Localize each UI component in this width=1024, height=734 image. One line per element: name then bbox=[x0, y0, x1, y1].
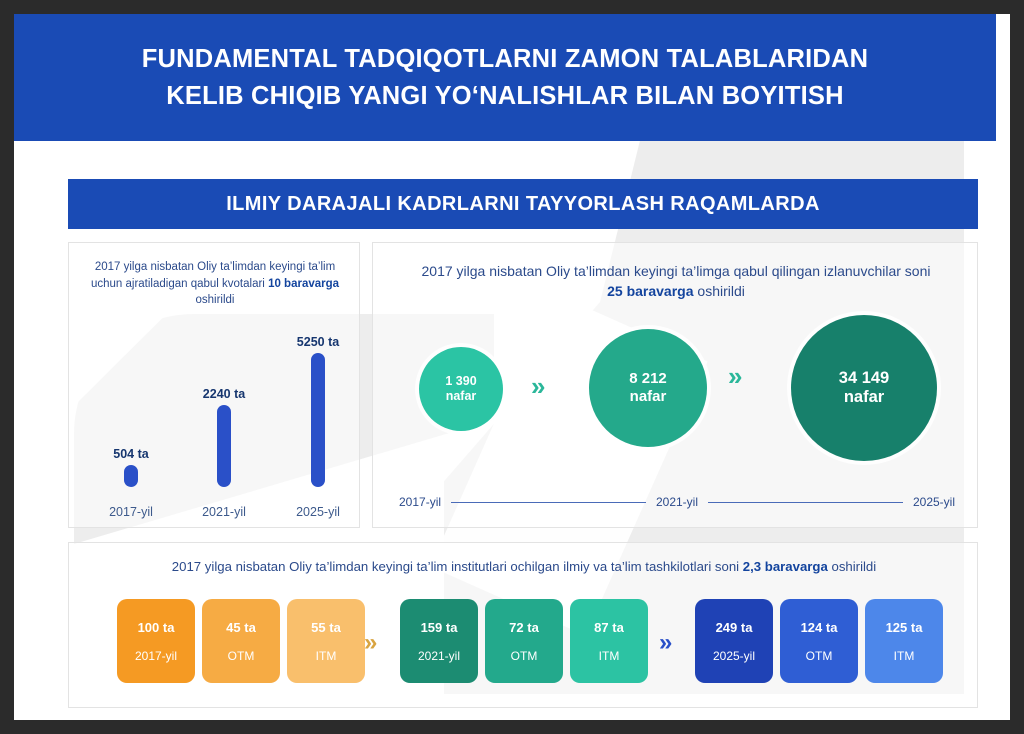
institution-card: 45 ta OTM bbox=[202, 599, 280, 683]
chevron-right-icon: » bbox=[659, 629, 668, 657]
card-number: 45 ta bbox=[226, 620, 256, 635]
slide-canvas: FUNDAMENTAL TADQIQOTLARNI ZAMON TALABLAR… bbox=[14, 14, 1010, 720]
circle-unit: nafar bbox=[844, 388, 884, 407]
bar-value-label: 5250 ta bbox=[278, 335, 358, 349]
bar-value-label: 2240 ta bbox=[184, 387, 264, 401]
researchers-caption-post: oshirildi bbox=[694, 283, 745, 299]
institutions-caption-highlight: 2,3 baravarga bbox=[743, 559, 828, 574]
timeline-label: 2025-yil bbox=[913, 495, 955, 509]
researchers-circle-2017: 1 390 nafar bbox=[419, 347, 503, 431]
researchers-caption-pre: 2017 yilga nisbatan Oliy ta’limdan keyin… bbox=[422, 263, 931, 279]
institution-card: 125 ta ITM bbox=[865, 599, 943, 683]
timeline-connector bbox=[451, 502, 646, 503]
quota-caption: 2017 yilga nisbatan Oliy ta’limdan keyin… bbox=[85, 259, 345, 309]
card-label: OTM bbox=[511, 649, 538, 663]
card-number: 159 ta bbox=[421, 620, 458, 635]
card-label: ITM bbox=[894, 649, 915, 663]
panel-quota-chart: 2017 yilga nisbatan Oliy ta’limdan keyin… bbox=[68, 242, 360, 528]
circle-unit: nafar bbox=[630, 388, 667, 406]
card-number: 72 ta bbox=[509, 620, 539, 635]
circle-number: 8 212 bbox=[629, 370, 667, 388]
bar-axis-label: 2025-yil bbox=[278, 505, 358, 519]
researchers-circle-2021: 8 212 nafar bbox=[589, 329, 707, 447]
institution-card: 159 ta 2021-yil bbox=[400, 599, 478, 683]
section-title-bar: ILMIY DARAJALI KADRLARNI TAYYORLASH RAQA… bbox=[68, 179, 978, 229]
card-label: 2017-yil bbox=[135, 649, 177, 663]
institution-card: 72 ta OTM bbox=[485, 599, 563, 683]
institution-card: 55 ta ITM bbox=[287, 599, 365, 683]
researchers-circle-2025: 34 149 nafar bbox=[791, 315, 937, 461]
timeline-label: 2017-yil bbox=[399, 495, 441, 509]
institutions-caption: 2017 yilga nisbatan Oliy ta’limdan keyin… bbox=[89, 557, 959, 576]
institutions-caption-pre: 2017 yilga nisbatan Oliy ta’limdan keyin… bbox=[172, 559, 743, 574]
card-number: 100 ta bbox=[138, 620, 175, 635]
circle-number: 34 149 bbox=[839, 369, 889, 388]
section-title: ILMIY DARAJALI KADRLARNI TAYYORLASH RAQA… bbox=[226, 193, 820, 216]
institution-card: 100 ta 2017-yil bbox=[117, 599, 195, 683]
bar-axis-label: 2021-yil bbox=[184, 505, 264, 519]
chevron-right-icon: » bbox=[728, 361, 738, 392]
researchers-caption-highlight: 25 baravarga bbox=[607, 283, 693, 299]
bar-rect bbox=[124, 465, 138, 487]
chevron-right-icon: » bbox=[531, 371, 541, 402]
bar-rect bbox=[311, 353, 325, 487]
bar-column: 5250 ta 2025-yil bbox=[278, 333, 358, 529]
card-number: 249 ta bbox=[716, 620, 753, 635]
card-label: OTM bbox=[806, 649, 833, 663]
quota-caption-post: oshirildi bbox=[196, 294, 235, 306]
card-label: 2021-yil bbox=[418, 649, 460, 663]
card-label: 2025-yil bbox=[713, 649, 755, 663]
bar-column: 504 ta 2017-yil bbox=[91, 333, 171, 529]
circle-unit: nafar bbox=[446, 389, 477, 404]
institutions-caption-post: oshirildi bbox=[828, 559, 876, 574]
card-number: 55 ta bbox=[311, 620, 341, 635]
bar-column: 2240 ta 2021-yil bbox=[184, 333, 264, 529]
card-label: ITM bbox=[316, 649, 337, 663]
page-title: FUNDAMENTAL TADQIQOTLARNI ZAMON TALABLAR… bbox=[142, 41, 869, 113]
timeline-connector bbox=[708, 502, 903, 503]
chevron-right-icon: » bbox=[364, 629, 373, 657]
card-label: OTM bbox=[228, 649, 255, 663]
bar-axis-label: 2017-yil bbox=[91, 505, 171, 519]
institution-card: 249 ta 2025-yil bbox=[695, 599, 773, 683]
panel-researchers: 2017 yilga nisbatan Oliy ta’limdan keyin… bbox=[372, 242, 978, 528]
slide-header: FUNDAMENTAL TADQIQOTLARNI ZAMON TALABLAR… bbox=[14, 14, 996, 141]
institutions-card-row: 100 ta 2017-yil 45 ta OTM 55 ta ITM » 15… bbox=[69, 593, 979, 703]
card-number: 124 ta bbox=[801, 620, 838, 635]
quota-bar-chart: 504 ta 2017-yil 2240 ta 2021-yil 5250 ta… bbox=[69, 333, 361, 529]
researchers-caption: 2017 yilga nisbatan Oliy ta’limdan keyin… bbox=[413, 261, 939, 302]
researchers-circle-row: 1 390 nafar » 8 212 nafar » 34 149 nafar bbox=[373, 319, 979, 469]
quota-caption-highlight: 10 baravarga bbox=[268, 278, 339, 290]
institution-card: 87 ta ITM bbox=[570, 599, 648, 683]
bar-value-label: 504 ta bbox=[91, 447, 171, 461]
timeline-label: 2021-yil bbox=[656, 495, 698, 509]
researchers-timeline: 2017-yil 2021-yil 2025-yil bbox=[399, 495, 955, 509]
card-number: 87 ta bbox=[594, 620, 624, 635]
panel-institutions: 2017 yilga nisbatan Oliy ta’limdan keyin… bbox=[68, 542, 978, 708]
institution-card: 124 ta OTM bbox=[780, 599, 858, 683]
card-number: 125 ta bbox=[886, 620, 923, 635]
bar-rect bbox=[217, 405, 231, 487]
circle-number: 1 390 bbox=[445, 374, 476, 389]
card-label: ITM bbox=[599, 649, 620, 663]
